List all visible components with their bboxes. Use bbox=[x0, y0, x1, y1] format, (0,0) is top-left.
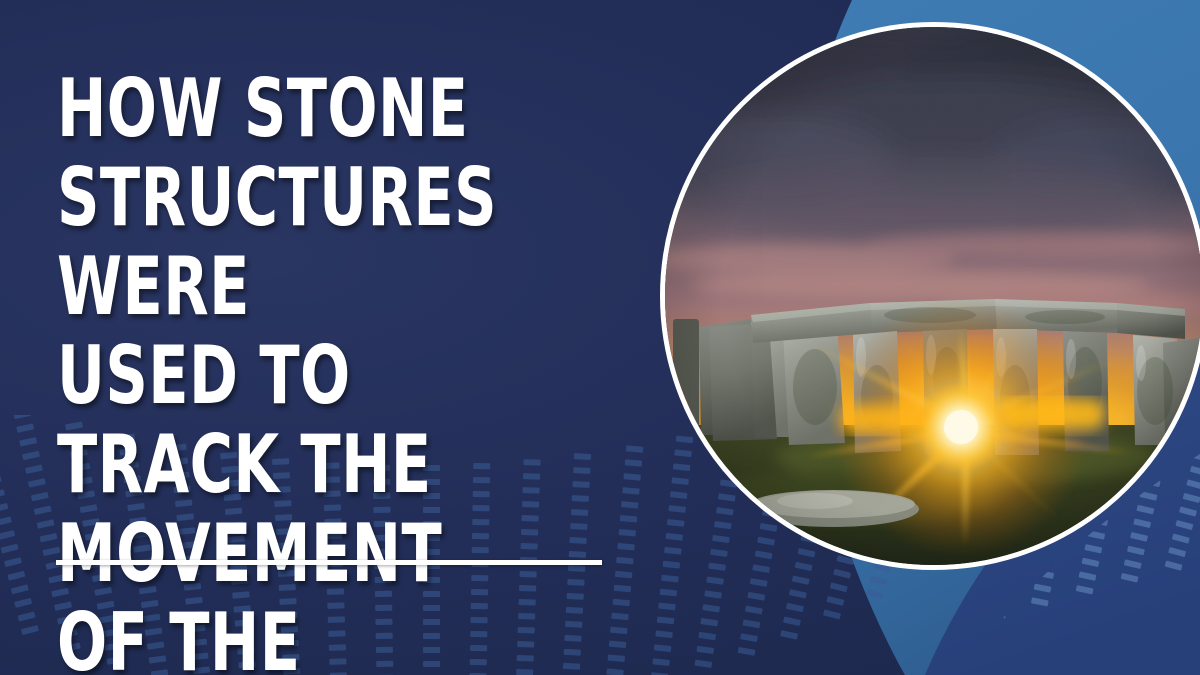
stonehenge-photo bbox=[665, 27, 1200, 565]
stonehenge-sunrise-illustration bbox=[665, 27, 1200, 565]
stonehenge-photo-circle bbox=[660, 22, 1200, 570]
title-underline bbox=[56, 560, 602, 565]
title-block: HOW STONE STRUCTURES WERE USED TO TRACK … bbox=[57, 64, 657, 675]
page-title: HOW STONE STRUCTURES WERE USED TO TRACK … bbox=[57, 64, 549, 675]
banner-root: HOW STONE STRUCTURES WERE USED TO TRACK … bbox=[0, 0, 1200, 675]
